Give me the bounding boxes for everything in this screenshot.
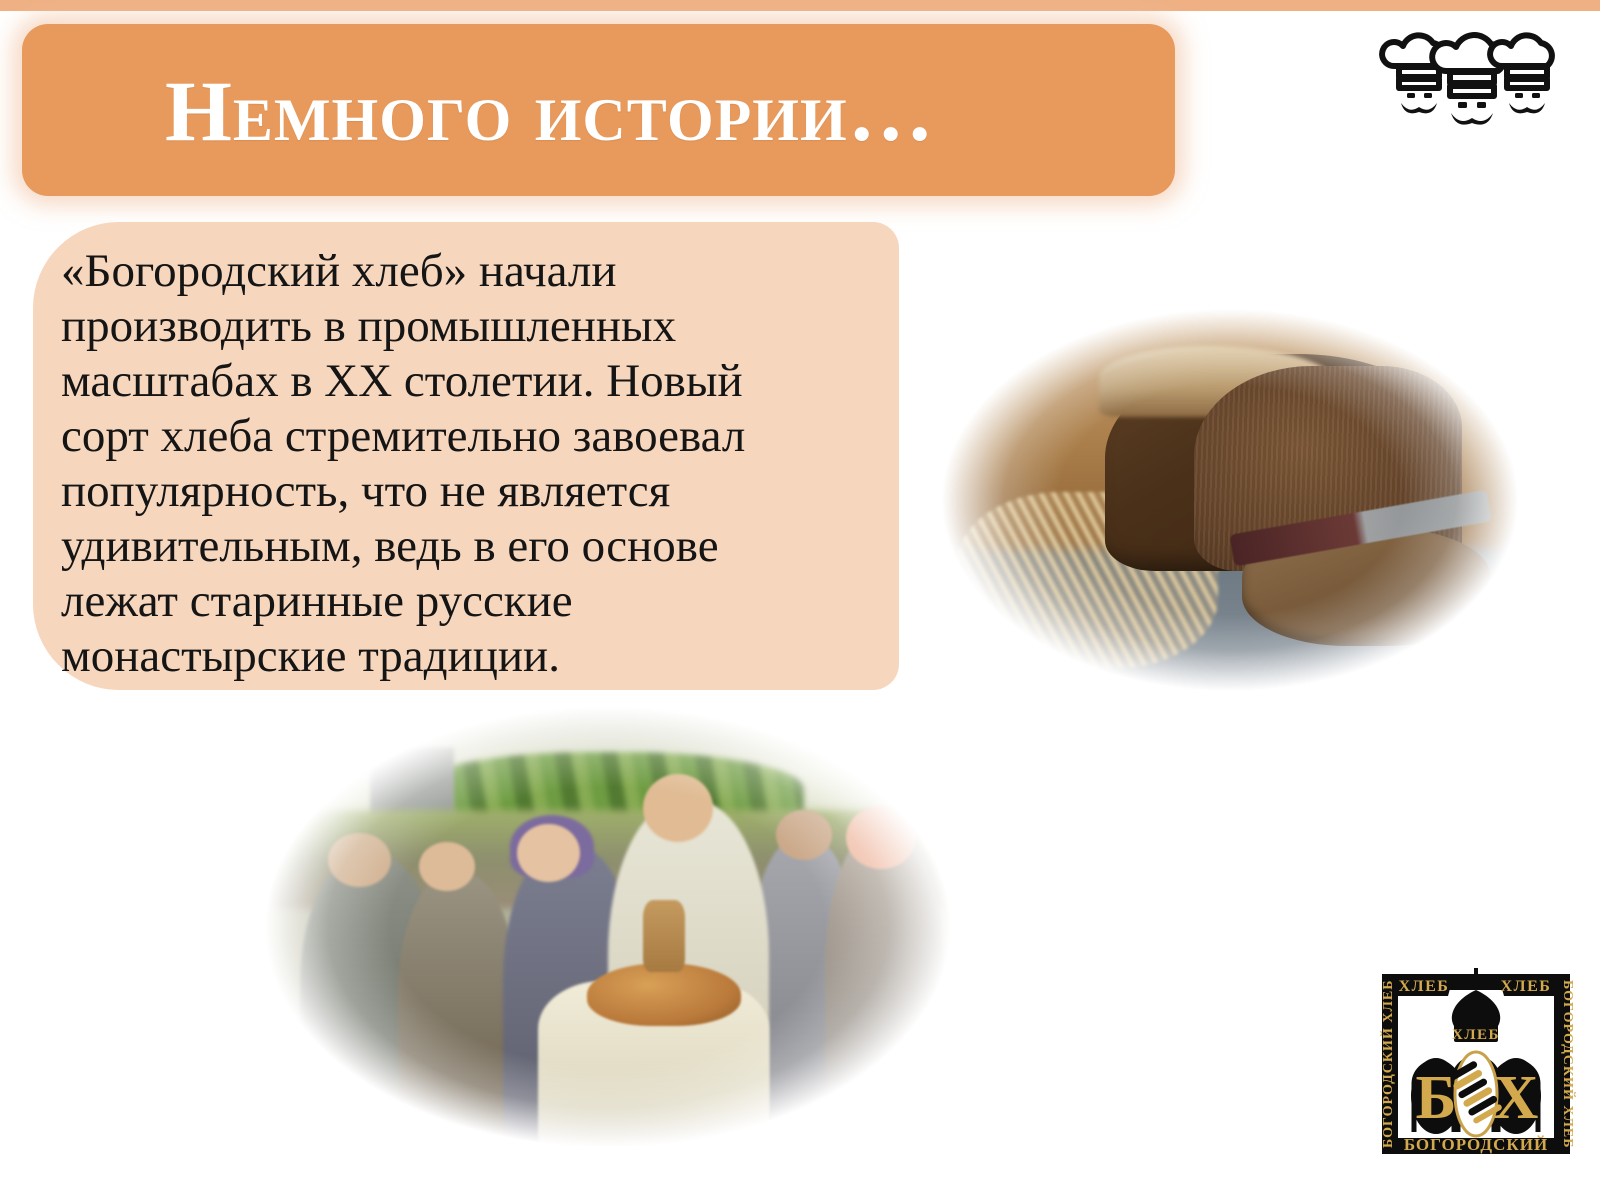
body-line: сорт хлеба стремительно завоевал bbox=[61, 409, 891, 464]
bread-photo-oval bbox=[933, 303, 1527, 697]
body-line: монастырские традиции. bbox=[61, 629, 891, 684]
peasants-painting: Картина: крестьяне встречают хлебом-соль… bbox=[240, 690, 970, 1160]
body-text: «Богородский хлеб» начали производить в … bbox=[61, 244, 891, 684]
painting-head bbox=[328, 833, 391, 887]
logo-top-right-text: ХЛЕБ bbox=[1501, 978, 1552, 995]
logo-monogram-left: Б bbox=[1416, 1064, 1457, 1132]
logo-right-border-text: БОГОРОДСКИЙ ХЛЕБ bbox=[1560, 980, 1577, 1148]
page-title: Немного истории… bbox=[165, 66, 935, 156]
chef-hats-icon bbox=[1373, 26, 1563, 126]
body-line: лежат старинные русские bbox=[61, 574, 891, 629]
logo-monogram-right: Х bbox=[1494, 1064, 1539, 1132]
bogorodsky-hleb-logo: Б Х ХЛЕБ ХЛЕБ ХЛЕБ БОГОРОДСКИЙ БОГОРОДСК… bbox=[1368, 936, 1584, 1158]
top-accent-strip bbox=[0, 0, 1600, 11]
logo-bottom-text: БОГОРОДСКИЙ bbox=[1404, 1135, 1548, 1154]
logo-dome-text: ХЛЕБ bbox=[1452, 1027, 1500, 1043]
painting-head bbox=[846, 806, 916, 869]
body-line: масштабах в XX столетии. Новый bbox=[61, 354, 891, 409]
painting-caption: Картина: крестьяне встречают хлебом-соль… bbox=[240, 690, 241, 691]
body-line: производить в промышленных bbox=[61, 299, 891, 354]
painting-oval bbox=[258, 702, 958, 1152]
body-line: популярность, что не является bbox=[61, 464, 891, 519]
bread-photo-caption: Каравай ржаного хлеба с нарезанными ломт… bbox=[905, 295, 906, 296]
painting-figure bbox=[825, 828, 944, 1143]
logo-top-left-text: ХЛЕБ bbox=[1399, 978, 1450, 995]
logo-left-border-text: БОГОРОДСКИЙ ХЛЕБ bbox=[1379, 980, 1396, 1148]
painting-head-elder bbox=[643, 774, 713, 842]
body-line: удивительным, ведь в его основе bbox=[61, 519, 891, 574]
painting-head bbox=[776, 810, 832, 860]
painting-head bbox=[517, 824, 580, 883]
body-line: «Богородский хлеб» начали bbox=[61, 244, 891, 299]
painting-salt-shaker bbox=[643, 900, 685, 972]
body-text-card: «Богородский хлеб» начали производить в … bbox=[33, 222, 899, 690]
painting-head bbox=[419, 842, 475, 892]
painting-figure bbox=[398, 873, 517, 1143]
bread-photo: Каравай ржаного хлеба с нарезанными ломт… bbox=[905, 295, 1545, 705]
painting-round-loaf bbox=[587, 963, 741, 1026]
